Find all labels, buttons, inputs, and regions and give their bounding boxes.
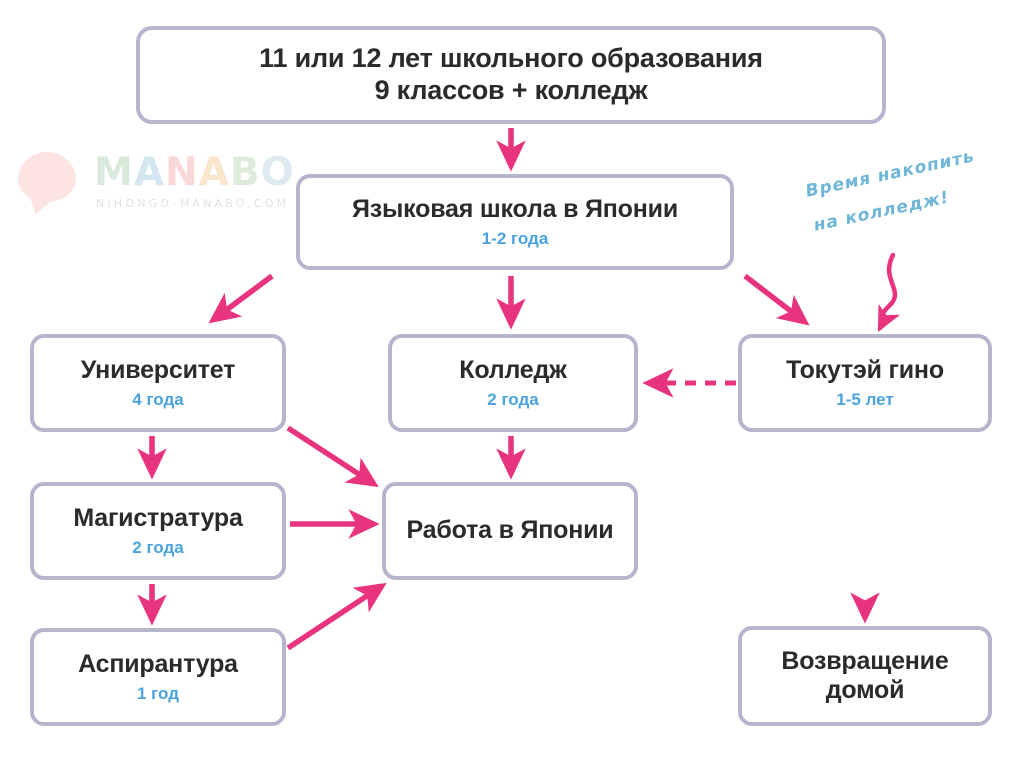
logo-letter-o: O <box>261 150 295 195</box>
node-doctoral-studies-duration: 1 год <box>137 684 179 704</box>
node-school-education[interactable]: 11 или 12 лет школьного образования 9 кл… <box>136 26 886 124</box>
edge-phd-to-work <box>288 586 382 648</box>
node-language-school-title: Языковая школа в Японии <box>352 195 678 225</box>
node-language-school-duration: 1-2 года <box>482 229 549 249</box>
logo-domain-text: NIHONGO-MANABO.COM <box>96 197 289 210</box>
node-work-in-japan-title: Работа в Японии <box>407 516 614 546</box>
node-return-home-title-line2: домой <box>826 676 905 706</box>
node-masters-degree-title: Магистратура <box>73 504 242 534</box>
node-masters-degree[interactable]: Магистратура 2 года <box>30 482 286 580</box>
node-university[interactable]: Университет 4 года <box>30 334 286 432</box>
node-masters-degree-duration: 2 года <box>132 538 183 558</box>
note-line-1: Время накопить <box>804 146 976 201</box>
flowchart-canvas: MANABO NIHONGO-MANABO.COM <box>0 0 1024 768</box>
node-tokutei-gino-duration: 1-5 лет <box>836 390 893 410</box>
logo-letter-a2: A <box>199 150 230 195</box>
node-university-duration: 4 года <box>132 390 183 410</box>
logo-letter-m: M <box>94 150 134 195</box>
logo-letter-n: N <box>165 150 199 195</box>
node-tokutei-gino-title: Токутэй гино <box>786 356 944 386</box>
node-doctoral-studies-title: Аспирантура <box>78 650 238 680</box>
handwritten-note: Время накопить на колледж! <box>792 178 1012 288</box>
node-doctoral-studies[interactable]: Аспирантура 1 год <box>30 628 286 726</box>
logo-letter-a1: A <box>134 150 165 195</box>
edge-langschool-to-university <box>213 276 272 320</box>
node-school-education-title-line2: 9 классов + колледж <box>375 75 648 107</box>
node-school-education-title-line1: 11 или 12 лет школьного образования <box>259 43 763 75</box>
node-college[interactable]: Колледж 2 года <box>388 334 638 432</box>
node-tokutei-gino[interactable]: Токутэй гино 1-5 лет <box>738 334 992 432</box>
speech-bubble-icon <box>18 152 76 202</box>
logo-letter-b: B <box>230 150 261 195</box>
node-college-duration: 2 года <box>487 390 538 410</box>
edge-university-to-work <box>288 428 374 484</box>
manabo-watermark-logo: MANABO NIHONGO-MANABO.COM <box>18 150 288 242</box>
node-language-school[interactable]: Языковая школа в Японии 1-2 года <box>296 174 734 270</box>
node-return-home-title-line1: Возвращение <box>781 647 948 677</box>
node-university-title: Университет <box>81 356 235 386</box>
node-return-home[interactable]: Возвращение домой <box>738 626 992 726</box>
logo-wordmark: MANABO <box>94 150 295 195</box>
node-work-in-japan[interactable]: Работа в Японии <box>382 482 638 580</box>
node-college-title: Колледж <box>459 356 566 386</box>
